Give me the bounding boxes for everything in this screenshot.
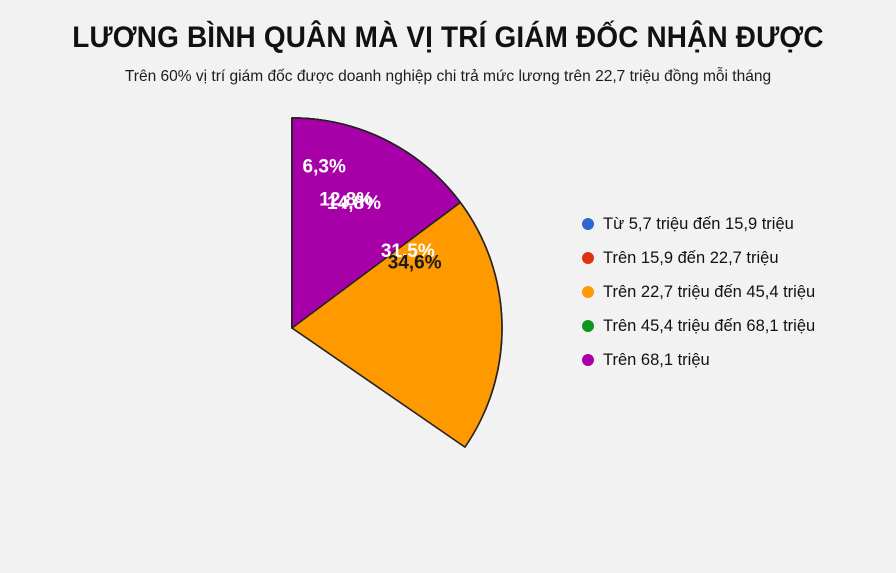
chart-subtitle: Trên 60% vị trí giám đốc được doanh nghi… — [13, 56, 882, 88]
legend-item[interactable]: Trên 45,4 triệu đến 68,1 triệu — [582, 309, 882, 343]
legend-item-label: Trên 22,7 triệu đến 45,4 triệu — [603, 282, 815, 302]
pie-slice-value-label: 6,3% — [303, 156, 346, 177]
pie-slice-value-label: 14,8% — [327, 193, 381, 214]
legend-color-swatch-icon — [582, 320, 594, 332]
legend-item-label: Trên 15,9 đến 22,7 triệu — [603, 248, 779, 268]
legend-color-swatch-icon — [582, 218, 594, 230]
legend-item-label: Trên 45,4 triệu đến 68,1 triệu — [603, 316, 815, 336]
legend-item[interactable]: Trên 15,9 đến 22,7 triệu — [582, 241, 882, 275]
legend-color-swatch-icon — [582, 354, 594, 366]
legend-item-label: Trên 68,1 triệu — [603, 350, 710, 370]
pie-chart-figure: LƯƠNG BÌNH QUÂN MÀ VỊ TRÍ GIÁM ĐỐC NHẬN … — [0, 0, 896, 573]
legend-item[interactable]: Trên 68,1 triệu — [582, 343, 882, 377]
legend-color-swatch-icon — [582, 286, 594, 298]
legend-item[interactable]: Từ 5,7 triệu đến 15,9 triệu — [582, 207, 882, 241]
pie-svg: 6,3%31,5%34,6%12,8%14,8% — [72, 108, 512, 548]
legend-item[interactable]: Trên 22,7 triệu đến 45,4 triệu — [582, 275, 882, 309]
pie-plot-area: 6,3%31,5%34,6%12,8%14,8% — [72, 108, 512, 548]
legend-item-label: Từ 5,7 triệu đến 15,9 triệu — [603, 214, 794, 234]
pie-slice-value-label: 34,6% — [388, 253, 442, 274]
legend-color-swatch-icon — [582, 252, 594, 264]
chart-legend: Từ 5,7 triệu đến 15,9 triệuTrên 15,9 đến… — [582, 207, 882, 377]
page-title: LƯƠNG BÌNH QUÂN MÀ VỊ TRÍ GIÁM ĐỐC NHẬN … — [31, 0, 864, 56]
chart-header: LƯƠNG BÌNH QUÂN MÀ VỊ TRÍ GIÁM ĐỐC NHẬN … — [0, 0, 896, 88]
